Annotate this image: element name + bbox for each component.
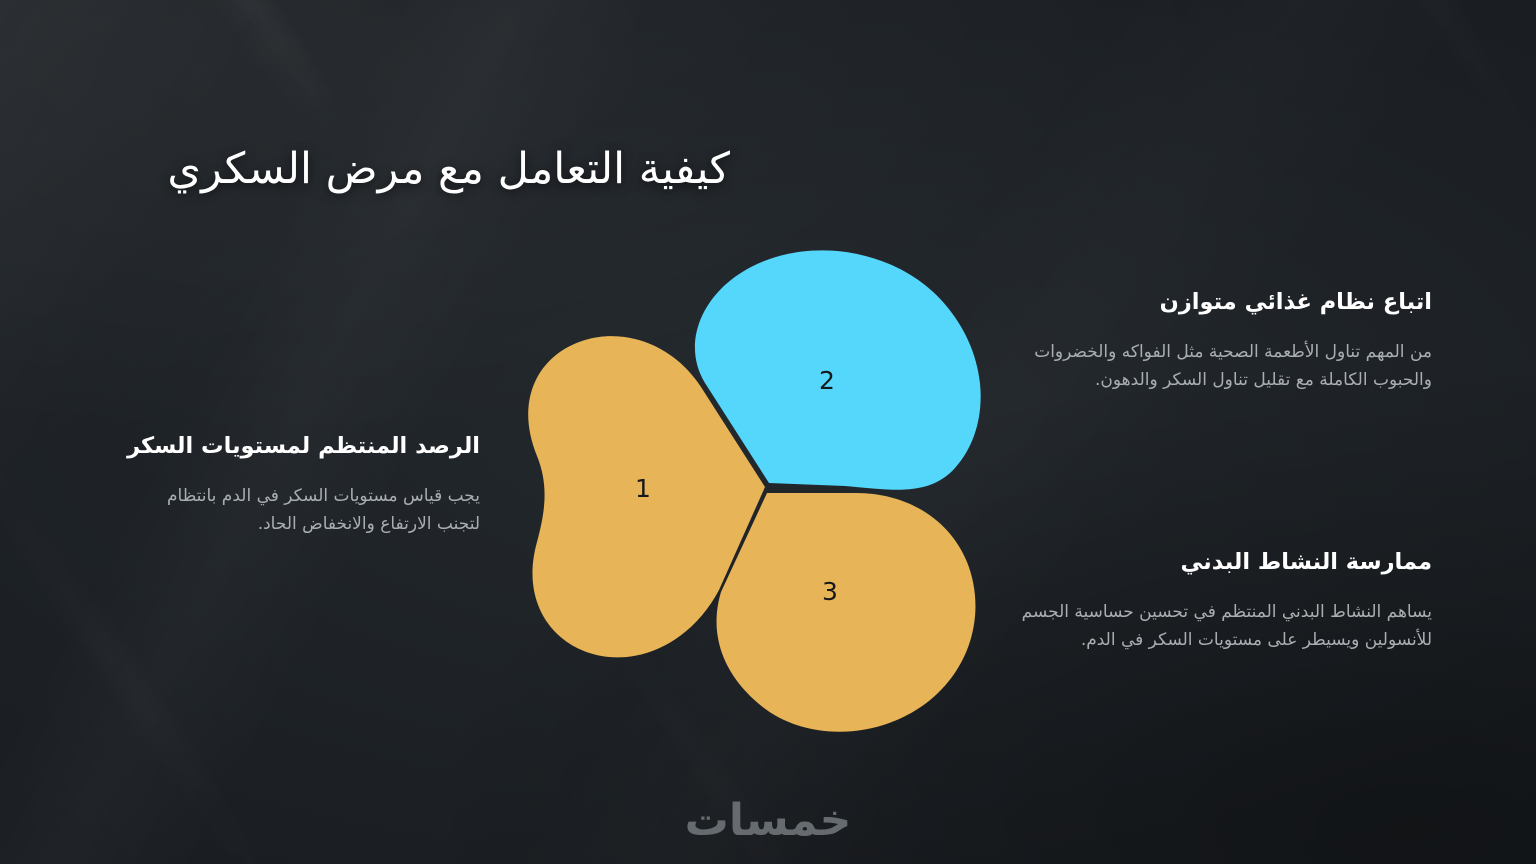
petal-number-2: 2 bbox=[819, 366, 835, 395]
info-heading-3: ممارسة النشاط البدني bbox=[1012, 548, 1432, 577]
info-block-3: ممارسة النشاط البدني يساهم النشاط البدني… bbox=[1012, 548, 1432, 654]
info-heading-2: اتباع نظام غذائي متوازن bbox=[1012, 288, 1432, 317]
info-body-1: يجب قياس مستويات السكر في الدم بانتظام ل… bbox=[140, 483, 480, 538]
petal-shape-3[interactable] bbox=[717, 493, 976, 732]
info-body-2: من المهم تناول الأطعمة الصحية مثل الفواك… bbox=[1012, 339, 1432, 394]
petal-number-1: 1 bbox=[635, 474, 651, 503]
info-block-1: الرصد المنتظم لمستويات السكر يجب قياس مس… bbox=[140, 432, 480, 538]
background-streak bbox=[0, 0, 350, 146]
petal-number-3: 3 bbox=[822, 577, 838, 606]
info-heading-1: الرصد المنتظم لمستويات السكر bbox=[140, 432, 480, 461]
petal-diagram: 1 2 3 bbox=[505, 240, 1005, 750]
info-body-3: يساهم النشاط البدني المنتظم في تحسين حسا… bbox=[1012, 599, 1432, 654]
info-block-2: اتباع نظام غذائي متوازن من المهم تناول ا… bbox=[1012, 288, 1432, 394]
background-streak bbox=[48, 0, 352, 138]
khamsat-watermark: خمسات bbox=[685, 795, 852, 846]
presentation-slide: كيفية التعامل مع مرض السكري 1 2 3 الرصد … bbox=[0, 0, 1536, 864]
slide-title: كيفية التعامل مع مرض السكري bbox=[70, 143, 730, 197]
background-streak bbox=[1138, 0, 1536, 212]
